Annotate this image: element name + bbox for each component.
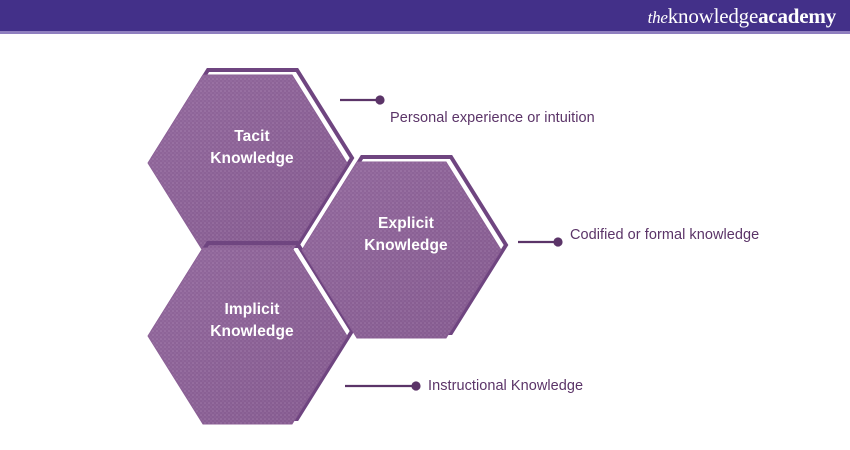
callout-label-tacit: Personal experience or intuition [390,107,605,129]
connector-implicit [345,381,421,390]
brand-logo-knowledge: knowledge [668,4,758,28]
header-bar: theknowledgeacademy [0,0,850,31]
hexagon-diagram: Tacit Knowledge Explicit Knowledge Impli… [0,34,850,450]
connector-implicit-dot [411,381,420,390]
connector-explicit-dot [553,237,562,246]
brand-logo-the: the [648,8,668,27]
callout-label-implicit: Instructional Knowledge [428,375,688,397]
brand-logo-academy: academy [758,4,836,28]
callout-label-explicit: Codified or formal knowledge [570,224,785,246]
connector-explicit [518,237,563,246]
connector-tacit-dot [375,95,384,104]
connector-tacit [340,95,385,104]
brand-logo: theknowledgeacademy [648,3,836,31]
